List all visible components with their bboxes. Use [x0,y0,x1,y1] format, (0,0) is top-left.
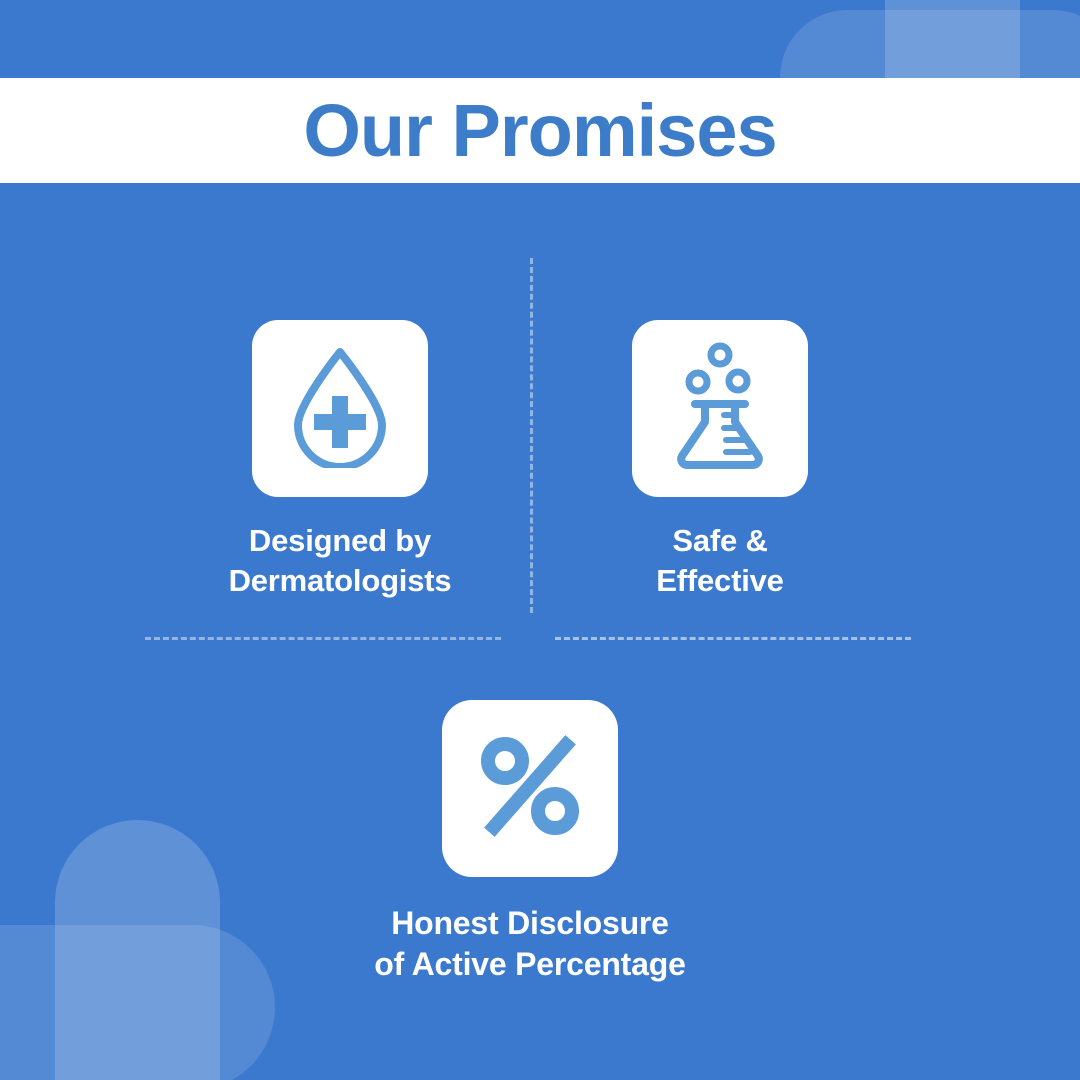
page-title: Our Promises [303,94,776,168]
promise-item-safe-and-effective: Safe & Effective [490,320,950,600]
promises-grid: Designed by Dermatologists [0,183,1080,1080]
promise-icon-card [632,320,808,497]
promise-icon-card [252,320,428,497]
promise-label: Designed by Dermatologists [229,521,452,600]
promise-label: Honest Disclosure of Active Percentage [374,903,685,985]
promise-item-honest-disclosure: Honest Disclosure of Active Percentage [300,700,760,985]
promise-label: Safe & Effective [656,521,783,600]
promises-poster: Our Promises Designed by Dermatologists [0,0,1080,1080]
promise-icon-card [442,700,618,877]
header-band: Our Promises [0,78,1080,183]
water-droplet-plus-icon [284,344,396,473]
percent-icon [478,734,582,843]
lab-flask-icon [664,342,776,475]
